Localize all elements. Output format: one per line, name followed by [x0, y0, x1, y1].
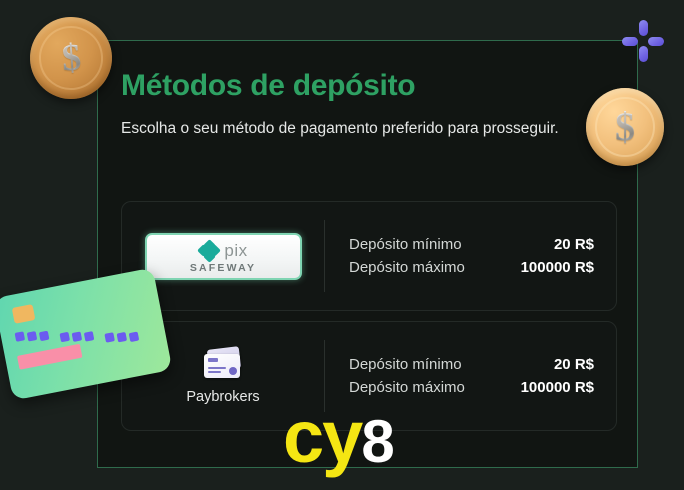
- watermark: cy 8: [283, 400, 393, 474]
- min-deposit-label: Depósito mínimo: [349, 236, 462, 253]
- pix-logo-row: pix: [198, 240, 247, 262]
- figure-line-min: Depósito mínimo 20 R$: [349, 356, 594, 373]
- card-dot: [104, 332, 115, 343]
- card-dot: [84, 331, 95, 342]
- max-deposit-value: 100000 R$: [521, 259, 594, 276]
- card-circle: [229, 367, 237, 375]
- card-line-1: [208, 358, 218, 362]
- dollar-sign-glyph: $: [60, 38, 82, 77]
- max-deposit-label: Depósito máximo: [349, 259, 465, 276]
- safeway-wordmark: SAFEWAY: [190, 263, 256, 274]
- card-dot: [15, 331, 26, 342]
- card-dot: [72, 331, 83, 342]
- card-line-3: [208, 371, 221, 373]
- method-brand-pix: pix SAFEWAY: [122, 233, 324, 280]
- card-dot: [117, 332, 128, 343]
- page-subtitle: Escolha o seu método de pagamento prefer…: [121, 117, 573, 141]
- pix-wordmark: pix: [224, 242, 247, 259]
- card-magnetic-stripe: [17, 344, 82, 370]
- panel-header: Métodos de depósito Escolha o seu método…: [98, 41, 637, 141]
- paybrokers-label: Paybrokers: [186, 389, 259, 405]
- min-deposit-value: 20 R$: [554, 356, 594, 373]
- pix-diamond-icon: [198, 240, 220, 262]
- method-figures-paybrokers: Depósito mínimo 20 R$ Depósito máximo 10…: [325, 356, 616, 396]
- card-dot: [129, 332, 140, 343]
- method-figures-pix: Depósito mínimo 20 R$ Depósito máximo 10…: [325, 236, 616, 276]
- watermark-text-8: 8: [361, 412, 392, 472]
- card-dot: [27, 331, 38, 342]
- figure-line-max: Depósito máximo 100000 R$: [349, 259, 594, 276]
- card-line-2: [208, 367, 226, 369]
- credit-cards-icon: [202, 348, 244, 380]
- max-deposit-label: Depósito máximo: [349, 379, 465, 396]
- plus-sparkle-icon: [622, 20, 664, 62]
- card-chip: [12, 304, 36, 324]
- sparkle-lobe-left: [622, 37, 638, 46]
- page-title: Métodos de depósito: [121, 69, 637, 104]
- figure-line-max: Depósito máximo 100000 R$: [349, 379, 594, 396]
- watermark-text-cy: cy: [283, 400, 361, 474]
- sparkle-lobe-bottom: [639, 46, 648, 62]
- dollar-sign-glyph: $: [615, 107, 635, 147]
- card-dot: [59, 332, 70, 343]
- gold-coin-icon-right: $: [586, 88, 664, 166]
- sparkle-lobe-right: [648, 37, 664, 46]
- figure-line-min: Depósito mínimo 20 R$: [349, 236, 594, 253]
- card-dot: [39, 331, 50, 342]
- sparkle-lobe-top: [639, 20, 648, 36]
- max-deposit-value: 100000 R$: [521, 379, 594, 396]
- card-front-shape: [204, 354, 240, 378]
- pix-safeway-logo-tile[interactable]: pix SAFEWAY: [145, 233, 302, 280]
- method-row-pix-safeway[interactable]: pix SAFEWAY Depósito mínimo 20 R$ Depósi…: [121, 201, 617, 311]
- min-deposit-label: Depósito mínimo: [349, 356, 462, 373]
- min-deposit-value: 20 R$: [554, 236, 594, 253]
